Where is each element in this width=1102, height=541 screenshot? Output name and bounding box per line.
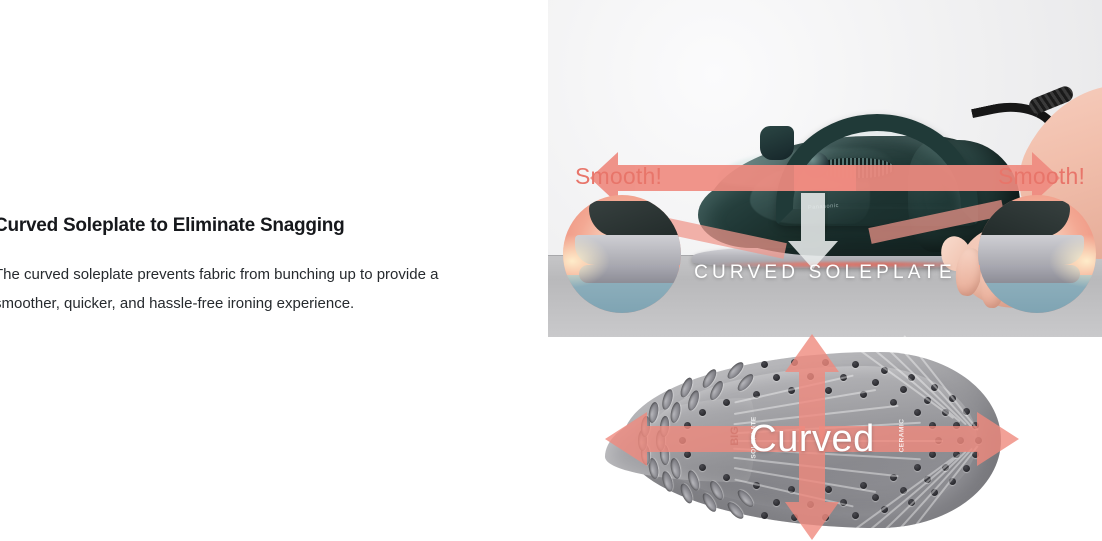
steam-vent-hole (761, 361, 768, 368)
soleplate-label: SOLEPLATE (751, 416, 758, 458)
ceramic-label: CERAMIC (898, 419, 905, 453)
arrow-down-icon (801, 193, 825, 241)
arrow-up-icon (799, 370, 825, 440)
detail-iron-shell (978, 201, 1070, 237)
steam-vent-hole (852, 361, 859, 368)
magnified-soleplate-detail-icon (978, 195, 1096, 313)
engraved-line (734, 375, 853, 404)
iron-steam-trigger (760, 126, 794, 160)
steam-vent-hole (852, 512, 859, 519)
feature-text-column: Curved Soleplate to Eliminate Snagging T… (0, 215, 504, 318)
feature-section: Curved Soleplate to Eliminate Snagging T… (0, 0, 1102, 534)
steam-vent-hole (761, 512, 768, 519)
big-label: BIG (729, 426, 741, 446)
page-title: Curved Soleplate to Eliminate Snagging (0, 215, 504, 238)
magnified-soleplate-detail-icon (563, 195, 681, 313)
steam-vent-hole (669, 402, 682, 424)
steam-vent-hole (699, 409, 706, 416)
steam-vent-hole (669, 457, 682, 479)
steam-vent-hole (648, 401, 661, 423)
smooth-label-right: Smooth! (998, 163, 1085, 190)
feature-description: The curved soleplate prevents fabric fro… (0, 260, 494, 318)
photo-caption: CURVED SOLEPLATE (548, 262, 1102, 284)
detail-iron-shell (589, 201, 681, 237)
arrow-down-icon (799, 440, 825, 502)
arrow-left-icon (645, 426, 805, 452)
steam-vent-hole (699, 464, 706, 471)
soleplate-diagram: BIG SOLEPLATE CERAMIC Curved (605, 346, 1019, 534)
product-photo: Panasonic Smooth! Smooth! (548, 0, 1102, 337)
smooth-label-left: Smooth! (575, 163, 662, 190)
